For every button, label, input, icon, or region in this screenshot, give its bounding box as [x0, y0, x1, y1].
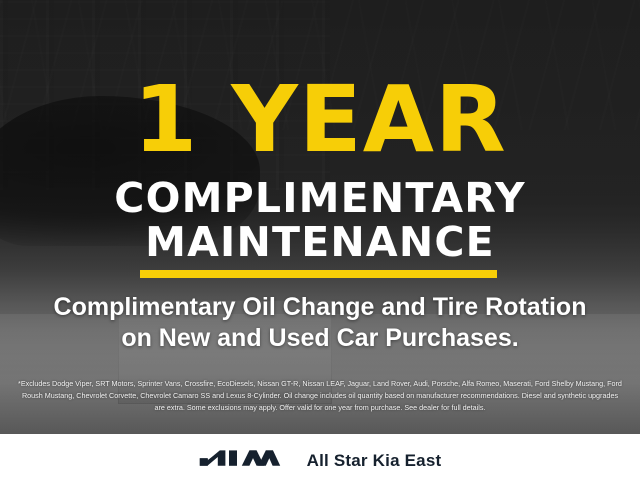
- subheadline-line-1: Complimentary Oil Change and Tire Rotati…: [18, 292, 622, 323]
- subheadline-line-2: on New and Used Car Purchases.: [18, 323, 622, 354]
- promotional-banner: 1 YEAR COMPLIMENTARY MAINTENANCE Complim…: [0, 0, 640, 488]
- banner-content: 1 YEAR COMPLIMENTARY MAINTENANCE Complim…: [0, 0, 640, 434]
- subheadline: Complimentary Oil Change and Tire Rotati…: [18, 292, 622, 354]
- kia-logo-icon: [199, 447, 281, 476]
- dealer-name: All Star Kia East: [307, 451, 442, 471]
- disclaimer-text: *Excludes Dodge Viper, SRT Motors, Sprin…: [16, 378, 624, 414]
- yellow-divider-bar: [140, 270, 497, 278]
- headline-maintenance: MAINTENANCE: [0, 222, 640, 263]
- headline-complimentary: COMPLIMENTARY: [0, 178, 640, 219]
- headline-year: 1 YEAR: [0, 74, 640, 166]
- footer-bar: All Star Kia East: [0, 434, 640, 488]
